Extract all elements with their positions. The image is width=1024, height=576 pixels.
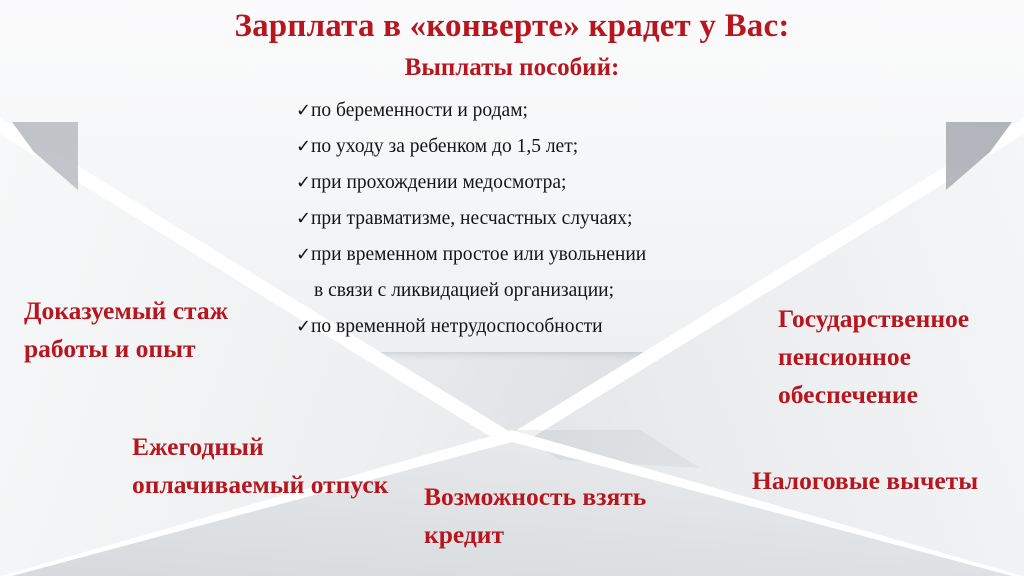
callout-tax-deductions: Налоговые вычеты [752, 462, 982, 500]
benefit-item-label: при прохождении медосмотра; [311, 172, 566, 193]
benefits-list: ✓по беременности и родам;✓по уходу за ре… [296, 93, 756, 345]
slide-subtitle: Выплаты пособий: [0, 54, 1024, 82]
benefit-item-label: по временной нетрудоспособности [311, 316, 603, 337]
benefit-item: ✓при временном простое или увольнении [296, 237, 756, 273]
check-icon: ✓ [296, 129, 311, 165]
check-icon: ✓ [296, 237, 311, 273]
benefit-item-label: по беременности и родам; [311, 100, 528, 121]
benefit-item-label: при травматизме, несчастных случаях; [311, 208, 632, 229]
benefit-item-label: по уходу за ребенком до 1,5 лет; [311, 136, 578, 157]
slide-canvas: Зарплата в «конверте» крадет у Вас: Выпл… [0, 0, 1024, 576]
check-icon: ✓ [296, 165, 311, 201]
callout-work-experience: Доказуемый стаж работы и опыт [24, 292, 294, 368]
check-icon: ✓ [296, 309, 311, 345]
callout-state-pension: Государственное пенсионное обеспечение [778, 300, 1024, 414]
benefit-item: ✓при прохождении медосмотра; [296, 165, 756, 201]
benefit-item-continuation: в связи с ликвидацией организации; [296, 273, 756, 309]
benefit-item: ✓при травматизме, несчастных случаях; [296, 201, 756, 237]
benefit-item: ✓по уходу за ребенком до 1,5 лет; [296, 129, 756, 165]
benefit-item: ✓по беременности и родам; [296, 93, 756, 129]
benefit-item: ✓по временной нетрудоспособности [296, 309, 756, 345]
check-icon: ✓ [296, 201, 311, 237]
callout-paid-vacation: Ежегодный оплачиваемый отпуск [132, 428, 392, 504]
callout-credit-loan: Возможность взять кредит [424, 478, 674, 554]
slide-title: Зарплата в «конверте» крадет у Вас: [0, 8, 1024, 45]
benefit-item-label: при временном простое или увольнении [311, 244, 646, 265]
check-icon: ✓ [296, 93, 311, 129]
